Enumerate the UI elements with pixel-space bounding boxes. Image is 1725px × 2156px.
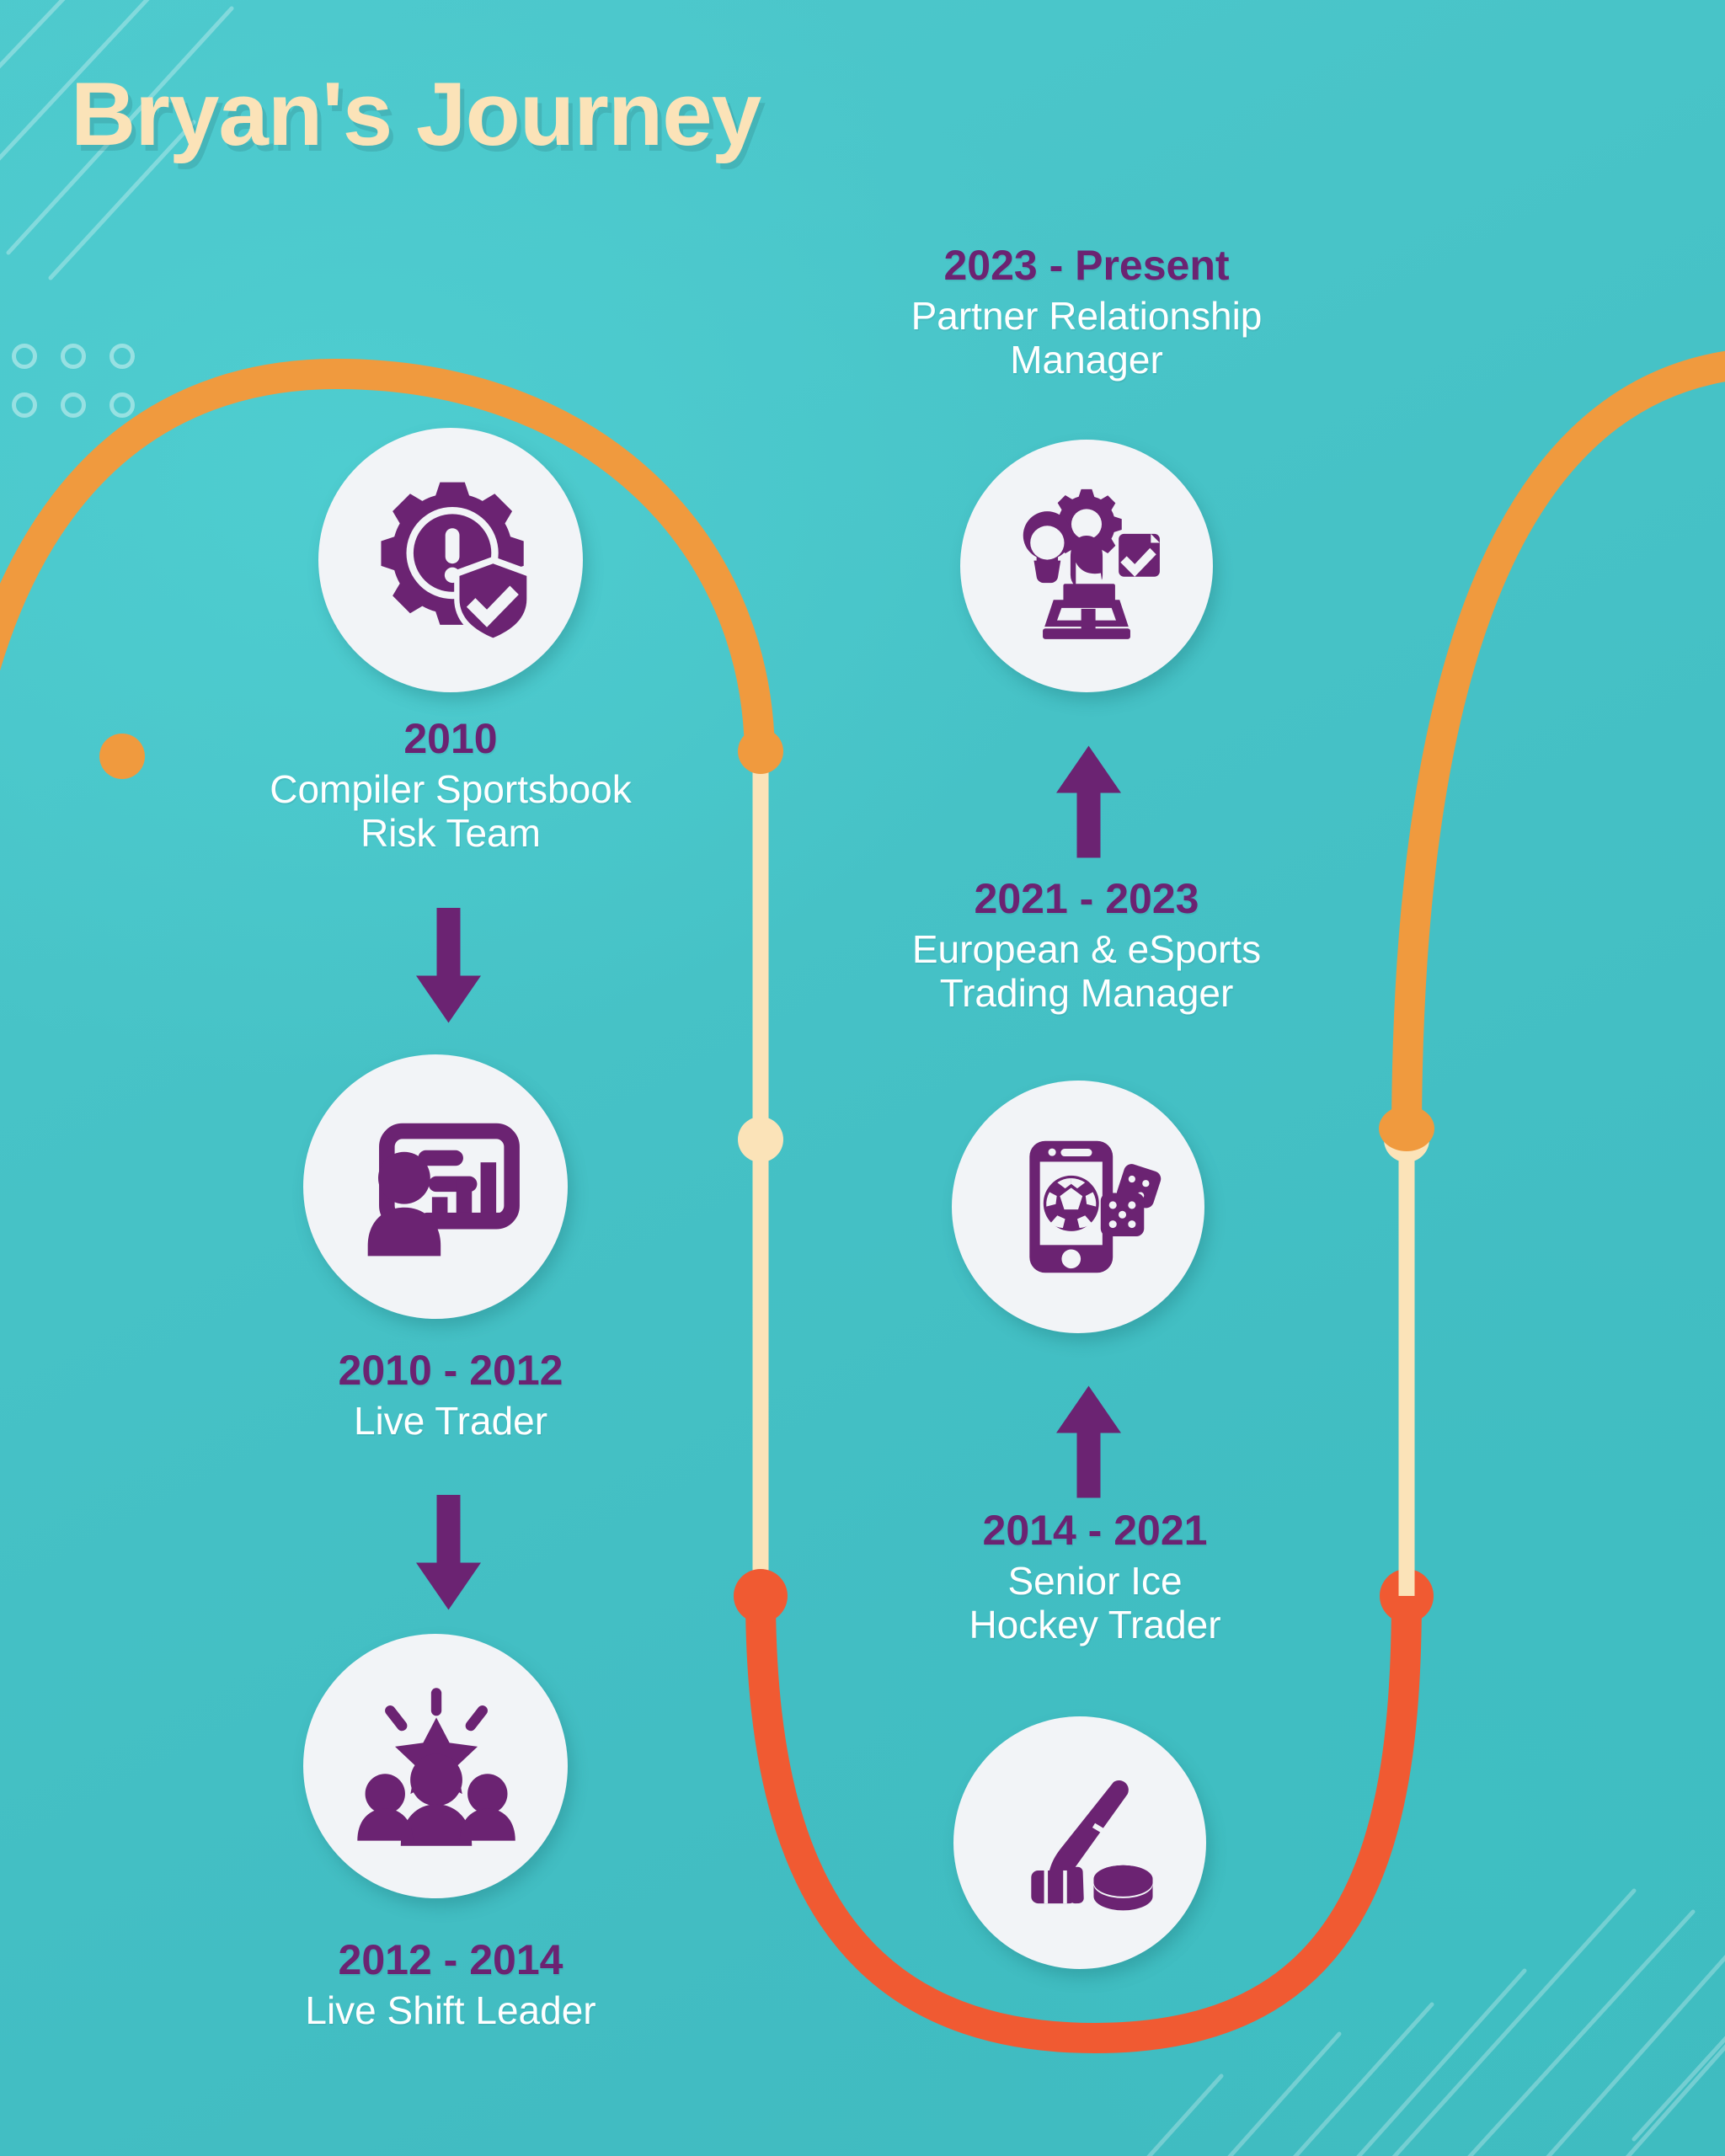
arrow-up-icon [1044,1383,1133,1501]
decor-dot [109,392,135,418]
icon-circle-compiler-sportsbook-risk-team[interactable] [318,428,583,692]
entry-block-live-trader: 2010 - 2012 Live Trader [131,1347,771,1444]
icon-circle-european-esports-trading-manager[interactable] [952,1081,1204,1333]
entry-role-line2: Risk Team [131,812,771,856]
orange-arch-right [1407,362,1725,1139]
presentation-chart-person-icon [349,1100,522,1273]
entry-block-senior-ice-hockey-trader: 2014 - 2021 Senior Ice Hockey Trader [800,1508,1390,1646]
decor-dot [12,344,37,369]
entry-years: 2023 - Present [758,243,1415,288]
diagonal-lines-bottom-right [1095,1891,1725,2156]
team-star-leader-icon [349,1679,522,1853]
entry-years: 2010 - 2012 [131,1347,771,1393]
entry-role-line2: Trading Manager [775,972,1398,1016]
entry-role-line2: Hockey Trader [800,1604,1390,1647]
entry-role-line1: Partner Relationship [758,295,1415,339]
icon-circle-senior-ice-hockey-trader[interactable] [953,1716,1206,1969]
entry-role-line1: Live Trader [131,1400,771,1444]
partner-collaboration-icon [997,477,1176,655]
entry-years: 2012 - 2014 [118,1937,783,1983]
decor-dot [61,392,86,418]
entry-years: 2014 - 2021 [800,1508,1390,1553]
connector-dot-red-center [734,1569,788,1623]
page-title: Bryan's Journey [71,69,761,159]
icon-circle-live-shift-leader[interactable] [303,1634,568,1898]
entry-role-line1: Live Shift Leader [118,1989,783,2033]
icon-circle-live-trader[interactable] [303,1054,568,1319]
arrow-down-icon [404,1495,493,1613]
gear-alert-shield-icon [362,472,539,648]
connector-dot-orange-right [1379,1106,1434,1151]
mobile-soccer-dice-icon [991,1120,1165,1294]
entry-role-line1: European & eSports [775,928,1398,972]
entry-role-line1: Compiler Sportsbook [131,768,771,812]
hockey-stick-puck-icon [993,1756,1167,1929]
entry-years: 2021 - 2023 [775,876,1398,921]
entry-role-line1: Senior Ice [800,1560,1390,1604]
arrow-down-icon [404,908,493,1026]
entry-block-live-shift-leader: 2012 - 2014 Live Shift Leader [118,1937,783,2033]
entry-block-compiler-sportsbook-risk-team: 2010 Compiler Sportsbook Risk Team [131,716,771,855]
connector-dot-cream-right-mid [1384,1117,1429,1162]
decor-dot [61,344,86,369]
entry-years: 2010 [131,716,771,761]
entry-role-line2: Manager [758,339,1415,382]
infographic-canvas: Bryan's Journey 2010 Compiler Sportsbook… [0,0,1725,2156]
entry-block-european-esports-trading-manager: 2021 - 2023 European & eSports Trading M… [775,876,1398,1015]
entry-block-partner-relationship-manager: 2023 - Present Partner Relationship Mana… [758,243,1415,382]
decor-dot [109,344,135,369]
icon-circle-partner-relationship-manager[interactable] [960,440,1213,692]
arrow-up-icon [1044,743,1133,861]
decor-dot [12,392,37,418]
connector-dot-cream-center-mid [738,1117,783,1162]
